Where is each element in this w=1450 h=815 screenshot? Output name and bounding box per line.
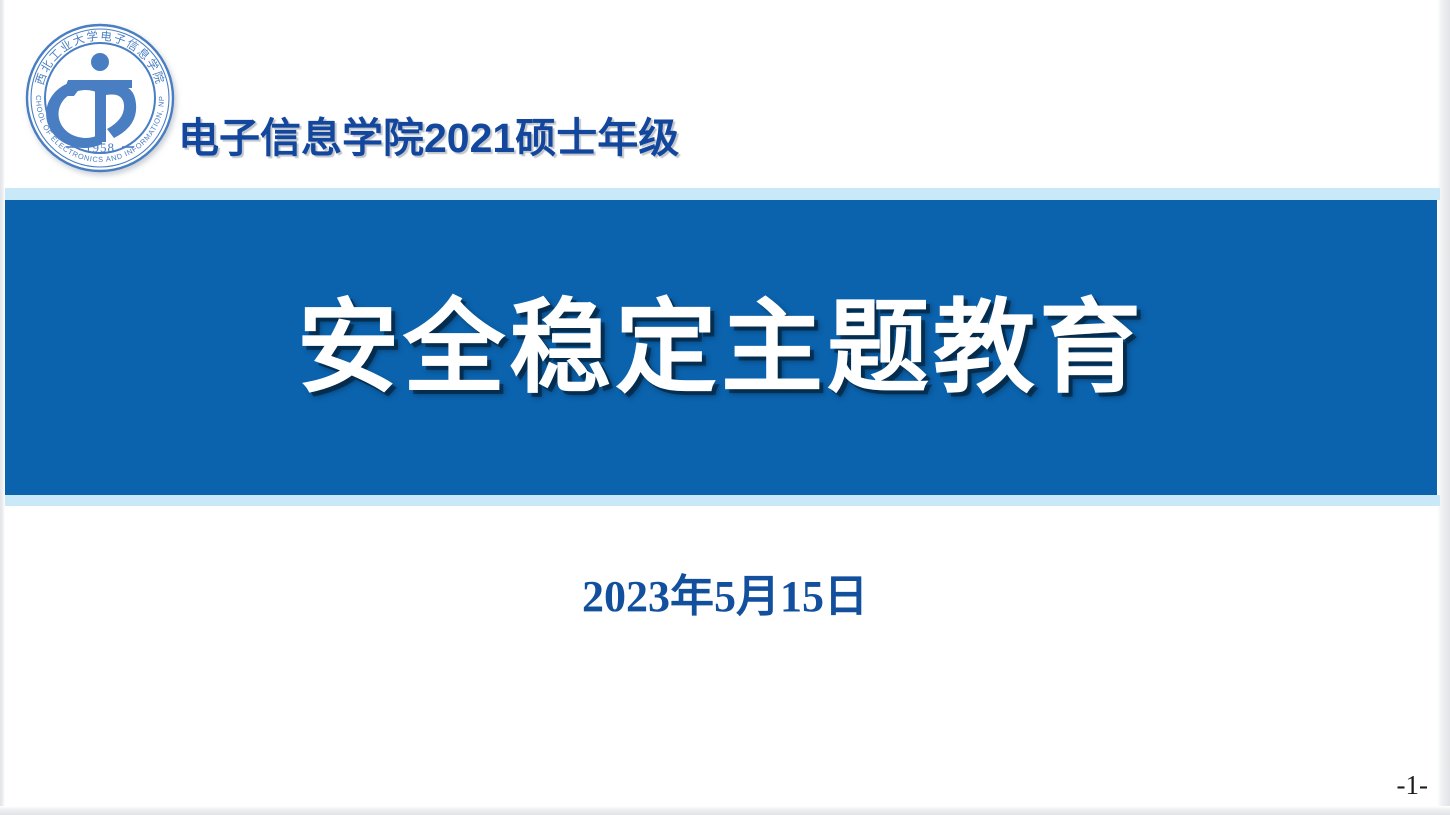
school-seal-logo: 西北工业大学电子信息学院 SCHOOL OF ELECTRONICS AND I… [16, 14, 184, 182]
title-banner: 安全稳定主题教育 [5, 200, 1437, 495]
svg-text:1958: 1958 [85, 140, 115, 155]
slide-bottom-edge [0, 806, 1450, 815]
divider-strip-bottom [5, 495, 1440, 506]
slide-header: 西北工业大学电子信息学院 SCHOOL OF ELECTRONICS AND I… [0, 0, 1450, 188]
header-organization-title: 电子信息学院2021硕士年级 [178, 118, 679, 159]
divider-strip-top [5, 188, 1440, 200]
presentation-slide: 西北工业大学电子信息学院 SCHOOL OF ELECTRONICS AND I… [0, 0, 1450, 815]
slide-main-title: 安全稳定主题教育 [297, 297, 1145, 399]
presentation-date: 2023年5月15日 [0, 575, 1450, 619]
page-number: -1- [1397, 772, 1428, 799]
